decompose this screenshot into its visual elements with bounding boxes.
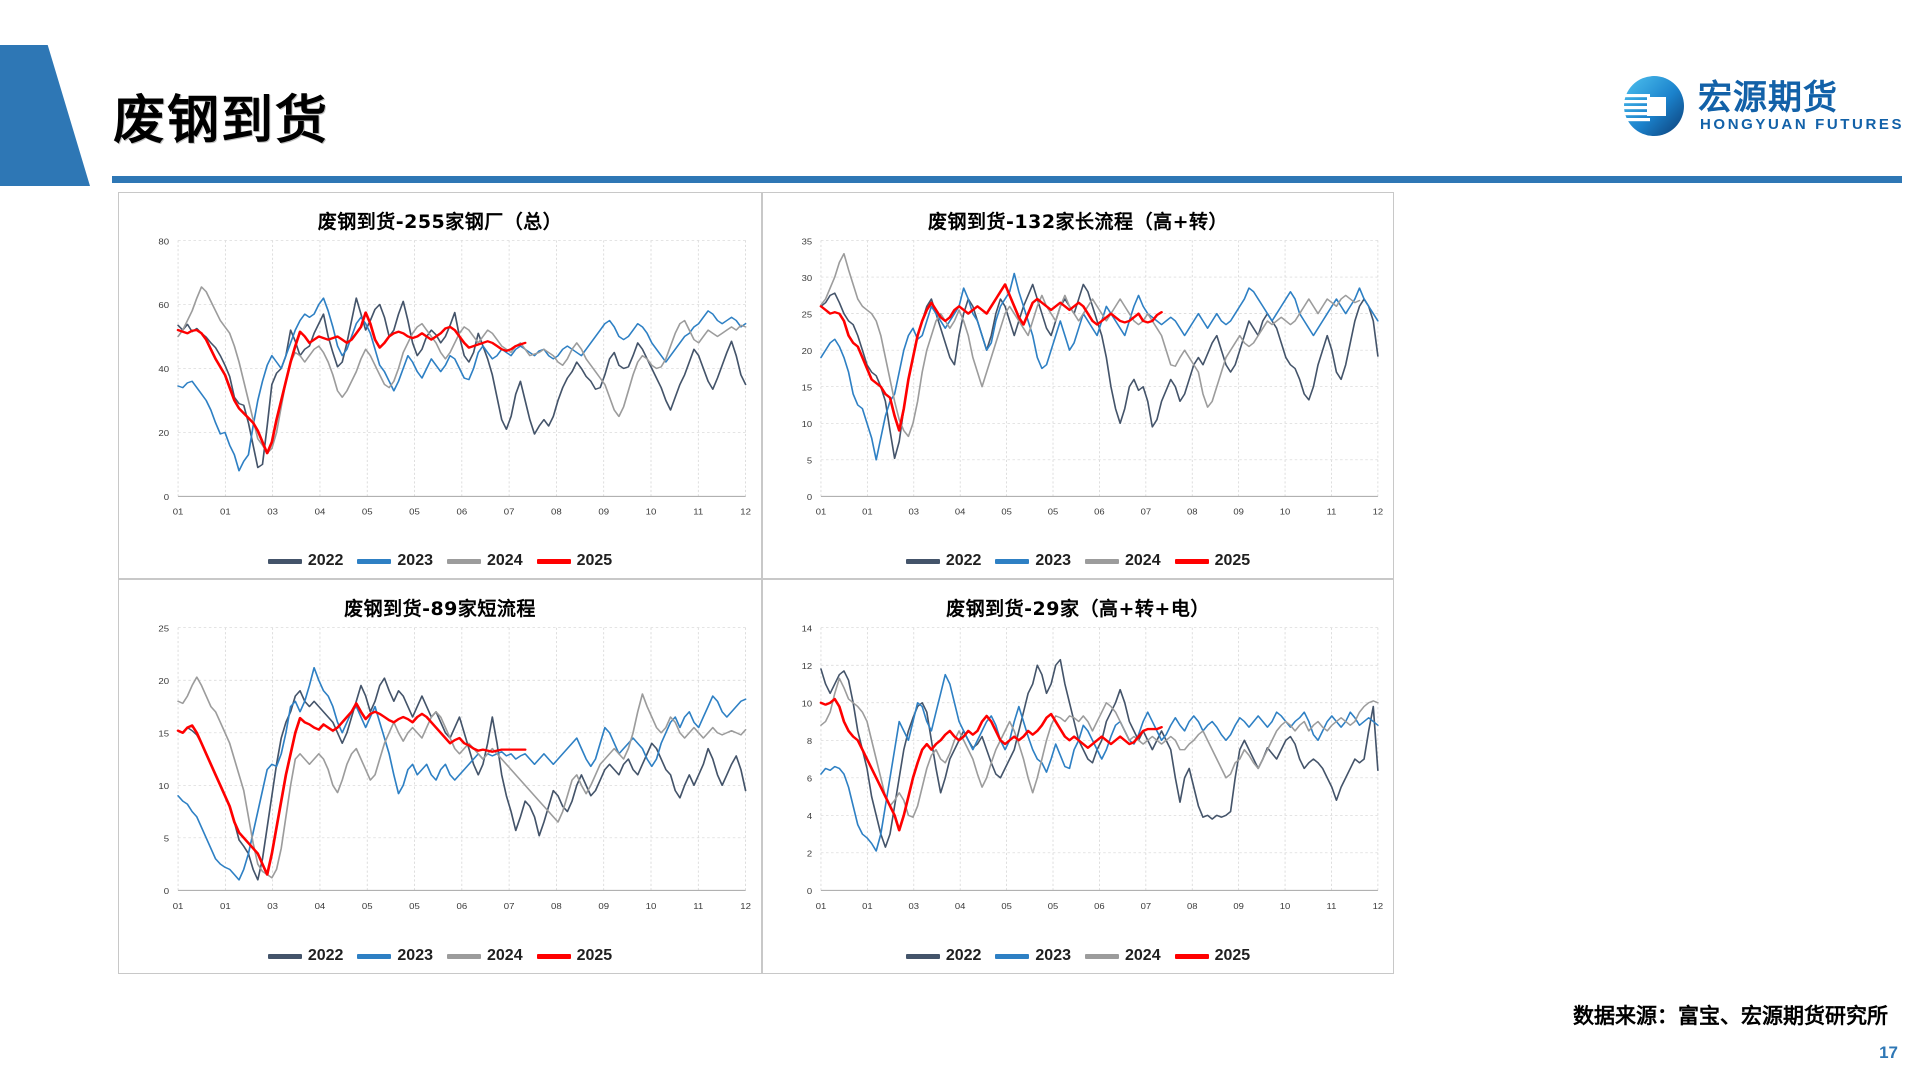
- plot-area: 051015202501010304050506070809101112: [119, 620, 761, 929]
- x-tick-label: 11: [693, 902, 703, 911]
- company-logo: 宏源期货 HONGYUAN FUTURES: [1620, 70, 1888, 142]
- legend-item-2022[interactable]: 2022: [906, 947, 982, 965]
- x-tick-label: 05: [362, 902, 373, 911]
- legend-item-2022[interactable]: 2022: [906, 552, 982, 570]
- x-tick-label: 12: [740, 902, 751, 911]
- legend-swatch-2025: [1175, 559, 1209, 564]
- series-line-2024: [821, 254, 1360, 437]
- x-tick-label: 09: [1233, 507, 1244, 516]
- legend-item-2023[interactable]: 2023: [995, 947, 1071, 965]
- x-tick-label: 08: [551, 507, 562, 516]
- legend-item-2022[interactable]: 2022: [268, 947, 344, 965]
- x-tick-label: 05: [1048, 902, 1059, 911]
- legend-label: 2024: [487, 552, 523, 570]
- legend-swatch-2024: [1085, 559, 1119, 564]
- x-tick-label: 09: [1233, 902, 1244, 911]
- y-tick-label: 30: [802, 273, 813, 282]
- x-tick-label: 08: [1187, 902, 1198, 911]
- x-tick-label: 03: [267, 902, 278, 911]
- page-header: 废钢到货 宏源期货 HONGYUAN FUTURES: [0, 0, 1920, 190]
- chart-title: 废钢到货-132家长流程（高+转）: [763, 207, 1393, 234]
- chart-panel-chart-29-mills: 废钢到货-29家（高+转+电）0246810121401010304050506…: [762, 579, 1394, 974]
- x-tick-label: 08: [1187, 507, 1198, 516]
- legend-item-2024[interactable]: 2024: [1085, 947, 1161, 965]
- x-tick-label: 05: [409, 507, 420, 516]
- legend-item-2025[interactable]: 2025: [537, 947, 613, 965]
- y-tick-label: 4: [807, 812, 812, 821]
- legend-label: 2023: [1035, 947, 1071, 965]
- legend-label: 2024: [487, 947, 523, 965]
- legend-label: 2022: [946, 552, 982, 570]
- legend-item-2025[interactable]: 2025: [1175, 947, 1251, 965]
- chart-legend: 2022202320242025: [119, 947, 761, 965]
- y-tick-label: 0: [164, 887, 169, 896]
- legend-label: 2023: [397, 947, 433, 965]
- x-tick-label: 11: [1327, 902, 1337, 911]
- legend-swatch-2022: [906, 954, 940, 959]
- legend-label: 2025: [1215, 947, 1251, 965]
- x-tick-label: 04: [955, 902, 966, 911]
- page-number: 17: [1879, 1043, 1898, 1063]
- hongyuan-logo-mark-icon: [1620, 72, 1688, 140]
- y-tick-label: 20: [802, 347, 813, 356]
- legend-label: 2024: [1125, 552, 1161, 570]
- y-tick-label: 0: [164, 493, 169, 502]
- page-title: 废钢到货: [113, 78, 329, 153]
- y-tick-label: 10: [158, 782, 169, 791]
- logo-name-cn: 宏源期货: [1698, 70, 1838, 119]
- chart-legend: 2022202320242025: [763, 947, 1393, 965]
- legend-label: 2025: [1215, 552, 1251, 570]
- legend-item-2025[interactable]: 2025: [1175, 552, 1251, 570]
- x-tick-label: 01: [816, 902, 827, 911]
- x-tick-label: 01: [220, 507, 231, 516]
- plot-area: 0246810121401010304050506070809101112: [763, 620, 1393, 929]
- y-tick-label: 10: [802, 699, 813, 708]
- legend-item-2025[interactable]: 2025: [537, 552, 613, 570]
- chart-svg: 0510152025303501010304050506070809101112: [763, 233, 1393, 534]
- chart-title: 废钢到货-29家（高+转+电）: [763, 594, 1393, 621]
- logo-name-en: HONGYUAN FUTURES: [1700, 116, 1904, 133]
- x-tick-label: 04: [315, 507, 326, 516]
- chart-svg: 02040608001010304050506070809101112: [119, 233, 761, 534]
- x-tick-label: 10: [646, 507, 657, 516]
- x-tick-label: 06: [1094, 902, 1105, 911]
- legend-label: 2023: [1035, 552, 1071, 570]
- y-tick-label: 10: [802, 420, 813, 429]
- x-tick-label: 04: [955, 507, 966, 516]
- series-line-2025: [178, 703, 525, 874]
- y-tick-label: 15: [802, 383, 813, 392]
- x-tick-label: 03: [909, 507, 920, 516]
- x-tick-label: 11: [1327, 507, 1337, 516]
- x-tick-label: 12: [740, 507, 751, 516]
- y-tick-label: 8: [807, 737, 812, 746]
- chart-title: 废钢到货-255家钢厂（总）: [119, 207, 761, 234]
- y-tick-label: 0: [807, 493, 812, 502]
- legend-item-2024[interactable]: 2024: [1085, 552, 1161, 570]
- x-tick-label: 01: [816, 507, 827, 516]
- legend-swatch-2024: [447, 559, 481, 564]
- x-tick-label: 01: [862, 902, 873, 911]
- x-tick-label: 10: [646, 902, 657, 911]
- y-tick-label: 12: [802, 662, 813, 671]
- x-tick-label: 10: [1280, 507, 1291, 516]
- y-tick-label: 40: [158, 365, 169, 374]
- legend-swatch-2022: [906, 559, 940, 564]
- x-tick-label: 10: [1280, 902, 1291, 911]
- x-tick-label: 07: [504, 507, 515, 516]
- x-tick-label: 01: [173, 507, 184, 516]
- x-tick-label: 01: [862, 507, 873, 516]
- y-tick-label: 20: [158, 677, 169, 686]
- chart-panel-chart-255-mills-total: 废钢到货-255家钢厂（总）02040608001010304050506070…: [118, 192, 762, 579]
- x-tick-label: 05: [1001, 902, 1012, 911]
- chart-grid: 废钢到货-255家钢厂（总）02040608001010304050506070…: [118, 192, 1394, 974]
- x-tick-label: 06: [1094, 507, 1105, 516]
- y-tick-label: 25: [158, 624, 169, 633]
- y-tick-label: 6: [807, 774, 812, 783]
- y-tick-label: 20: [158, 429, 169, 438]
- legend-swatch-2022: [268, 954, 302, 959]
- chart-panel-chart-132-long-process: 废钢到货-132家长流程（高+转）05101520253035010103040…: [762, 192, 1394, 579]
- legend-swatch-2023: [357, 954, 391, 959]
- x-tick-label: 03: [267, 507, 278, 516]
- x-tick-label: 06: [456, 902, 467, 911]
- y-tick-label: 15: [158, 729, 169, 738]
- x-tick-label: 03: [909, 902, 920, 911]
- legend-item-2023[interactable]: 2023: [995, 552, 1071, 570]
- data-source-note: 数据来源：富宝、宏源期货研究所: [1573, 1000, 1888, 1030]
- x-tick-label: 06: [456, 507, 467, 516]
- legend-label: 2025: [577, 552, 613, 570]
- legend-swatch-2023: [995, 954, 1029, 959]
- legend-label: 2022: [308, 947, 344, 965]
- x-tick-label: 01: [173, 902, 184, 911]
- legend-swatch-2025: [1175, 954, 1209, 959]
- decorative-corner-shape: [0, 45, 90, 186]
- chart-legend: 2022202320242025: [763, 552, 1393, 570]
- x-tick-label: 07: [504, 902, 515, 911]
- legend-swatch-2023: [357, 559, 391, 564]
- legend-label: 2022: [946, 947, 982, 965]
- legend-label: 2024: [1125, 947, 1161, 965]
- y-tick-label: 60: [158, 301, 169, 310]
- x-tick-label: 08: [551, 902, 562, 911]
- legend-swatch-2022: [268, 559, 302, 564]
- chart-panel-chart-89-short-process: 废钢到货-89家短流程05101520250101030405050607080…: [118, 579, 762, 974]
- chart-title: 废钢到货-89家短流程: [119, 594, 761, 621]
- legend-item-2022[interactable]: 2022: [268, 552, 344, 570]
- chart-svg: 051015202501010304050506070809101112: [119, 620, 761, 929]
- y-tick-label: 0: [807, 887, 812, 896]
- y-tick-label: 5: [807, 456, 812, 465]
- legend-item-2024[interactable]: 2024: [447, 552, 523, 570]
- chart-svg: 0246810121401010304050506070809101112: [763, 620, 1393, 929]
- x-tick-label: 05: [409, 902, 420, 911]
- series-line-2023: [821, 675, 1378, 851]
- legend-label: 2023: [397, 552, 433, 570]
- x-tick-label: 05: [1001, 507, 1012, 516]
- x-tick-label: 01: [220, 902, 231, 911]
- legend-swatch-2023: [995, 559, 1029, 564]
- x-tick-label: 05: [1048, 507, 1059, 516]
- x-tick-label: 04: [315, 902, 326, 911]
- plot-area: 0510152025303501010304050506070809101112: [763, 233, 1393, 534]
- x-tick-label: 09: [598, 507, 609, 516]
- legend-swatch-2025: [537, 954, 571, 959]
- y-tick-label: 2: [807, 849, 812, 858]
- x-tick-label: 11: [693, 507, 703, 516]
- x-tick-label: 05: [362, 507, 373, 516]
- legend-item-2023[interactable]: 2023: [357, 552, 433, 570]
- y-tick-label: 80: [158, 237, 169, 246]
- legend-item-2024[interactable]: 2024: [447, 947, 523, 965]
- y-tick-label: 25: [802, 310, 813, 319]
- y-tick-label: 14: [802, 624, 813, 633]
- y-tick-label: 5: [164, 834, 169, 843]
- y-tick-label: 35: [802, 237, 813, 246]
- x-tick-label: 12: [1373, 507, 1384, 516]
- header-divider: [112, 176, 1902, 183]
- legend-label: 2022: [308, 552, 344, 570]
- x-tick-label: 12: [1373, 902, 1384, 911]
- legend-item-2023[interactable]: 2023: [357, 947, 433, 965]
- x-tick-label: 09: [598, 902, 609, 911]
- legend-label: 2025: [577, 947, 613, 965]
- plot-area: 02040608001010304050506070809101112: [119, 233, 761, 534]
- legend-swatch-2025: [537, 559, 571, 564]
- x-tick-label: 07: [1141, 507, 1152, 516]
- legend-swatch-2024: [447, 954, 481, 959]
- chart-legend: 2022202320242025: [119, 552, 761, 570]
- x-tick-label: 07: [1141, 902, 1152, 911]
- legend-swatch-2024: [1085, 954, 1119, 959]
